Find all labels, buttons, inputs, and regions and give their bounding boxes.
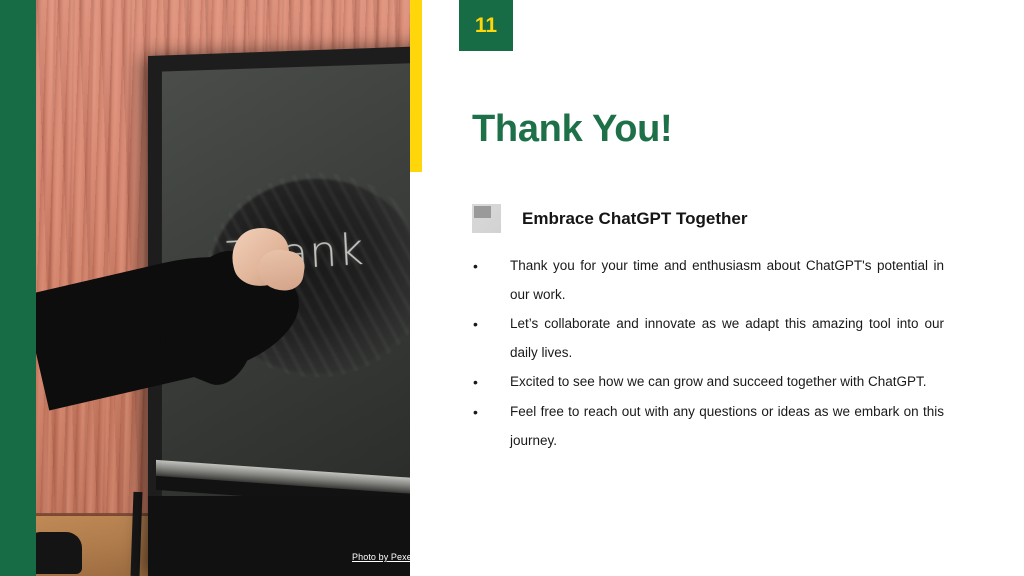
subheading-row: Embrace ChatGPT Together <box>472 204 747 233</box>
bullet-list: Thank you for your time and enthusiasm a… <box>470 252 944 456</box>
slide-number-label: 11 <box>475 15 497 36</box>
photo-chalkboard-lower-body <box>148 496 410 576</box>
left-green-accent-strip <box>0 0 36 576</box>
photo-credit-link[interactable]: Photo by Pexels <box>352 552 410 562</box>
chalkboard-photo: Thank y Photo by Pexels <box>36 0 410 576</box>
list-item: Thank you for your time and enthusiasm a… <box>470 252 944 309</box>
page-title: Thank You! <box>472 108 672 151</box>
slide-number-badge: 11 <box>459 0 513 51</box>
slide-root: Thank y Photo by Pexels 11 Thank You! Em… <box>0 0 1024 576</box>
yellow-accent-strip <box>410 0 422 172</box>
subheading-label: Embrace ChatGPT Together <box>522 209 747 229</box>
list-item: Feel free to reach out with any question… <box>470 398 944 455</box>
image-placeholder-icon <box>472 204 501 233</box>
list-item: Let’s collaborate and innovate as we ada… <box>470 310 944 367</box>
photo-floor-object <box>36 532 82 574</box>
list-item: Excited to see how we can grow and succe… <box>470 368 944 397</box>
